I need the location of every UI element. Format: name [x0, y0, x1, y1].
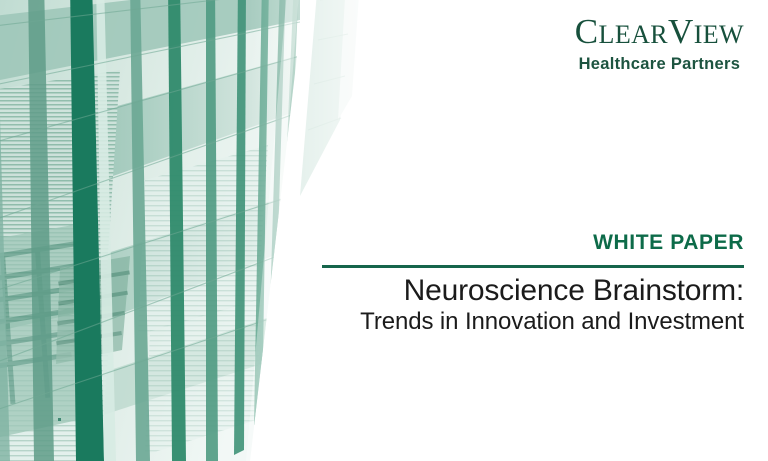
clearview-healthcare-partners-logo: CLEARVIEW Healthcare Partners	[575, 14, 744, 73]
logo-wordmark-lear: LEAR	[599, 20, 668, 49]
page-subtitle: Trends in Innovation and Investment	[320, 308, 744, 336]
page-title: Neuroscience Brainstorm:	[320, 274, 744, 308]
logo-wordmark: CLEARVIEW	[575, 14, 744, 49]
logo-wordmark-c: C	[575, 12, 599, 51]
document-type-label: WHITE PAPER	[320, 232, 744, 253]
logo-wordmark-iew: IEW	[694, 20, 744, 49]
white-paper-cover: CLEARVIEW Healthcare Partners WHITE PAPE…	[0, 0, 768, 461]
title-block: WHITE PAPER Neuroscience Brainstorm: Tre…	[320, 232, 744, 336]
logo-wordmark-v: V	[668, 12, 694, 51]
glass-skyscraper-facade-photo	[0, 0, 430, 461]
logo-tagline: Healthcare Partners	[575, 56, 744, 73]
title-divider-rule	[322, 265, 744, 268]
